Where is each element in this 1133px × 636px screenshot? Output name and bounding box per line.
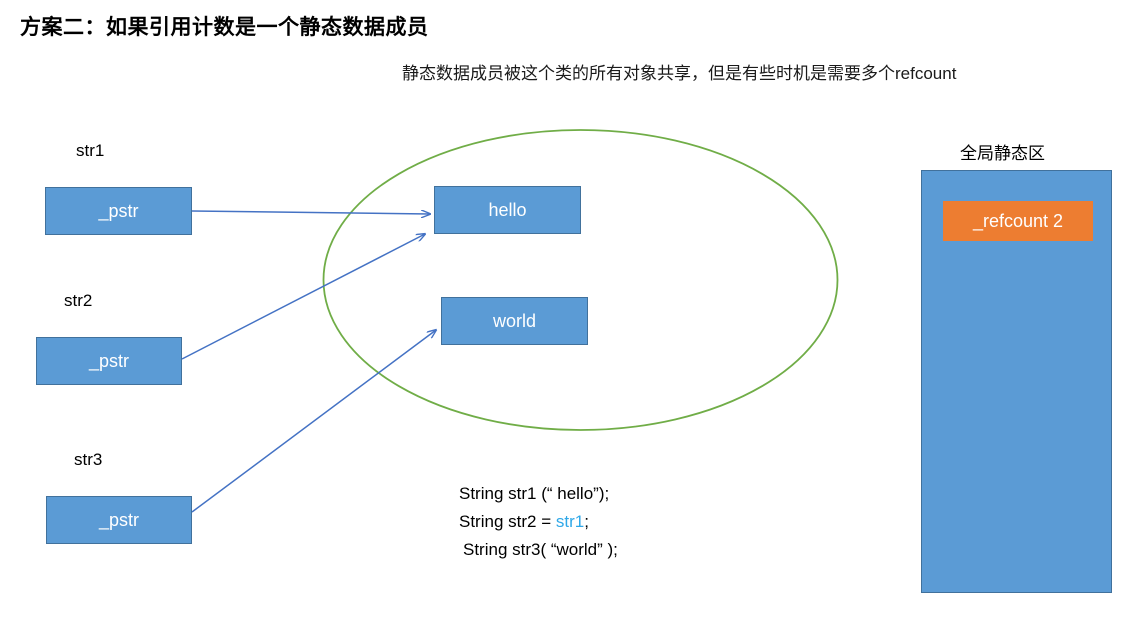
arrow-str1-to-hello — [192, 211, 430, 214]
code-line-2-ref: str1 — [556, 512, 584, 531]
heap-block-hello[interactable]: hello — [434, 186, 581, 234]
code-line-1: String str1 (“ hello”); — [459, 484, 618, 504]
page-title: 方案二：如果引用计数是一个静态数据成员 — [20, 11, 429, 41]
arrow-str3-to-world — [192, 330, 436, 512]
label-str2: str2 — [64, 291, 92, 311]
str1-pstr-box[interactable]: _pstr — [45, 187, 192, 235]
label-str3: str3 — [74, 450, 102, 470]
code-line-2-suffix: ; — [584, 512, 589, 531]
static-region-title: 全局静态区 — [960, 139, 1045, 164]
str3-pstr-box[interactable]: _pstr — [46, 496, 192, 544]
code-line-3: String str3( “world” ); — [459, 540, 618, 560]
str2-pstr-box[interactable]: _pstr — [36, 337, 182, 385]
code-line-2-prefix: String str2 = — [459, 512, 556, 531]
arrow-str2-to-hello — [182, 234, 425, 359]
label-str1: str1 — [76, 141, 104, 161]
heap-ellipse — [324, 130, 838, 430]
diagram-canvas: 方案二：如果引用计数是一个静态数据成员 静态数据成员被这个类的所有对象共享，但是… — [0, 0, 1133, 636]
static-region-panel: _refcount 2 — [921, 170, 1112, 593]
description-text: 静态数据成员被这个类的所有对象共享，但是有些时机是需要多个refcount — [402, 62, 1062, 87]
code-listing: String str1 (“ hello”); String str2 = st… — [459, 484, 618, 568]
heap-block-world[interactable]: world — [441, 297, 588, 345]
code-line-2: String str2 = str1; — [459, 512, 618, 532]
refcount-box[interactable]: _refcount 2 — [943, 201, 1093, 241]
